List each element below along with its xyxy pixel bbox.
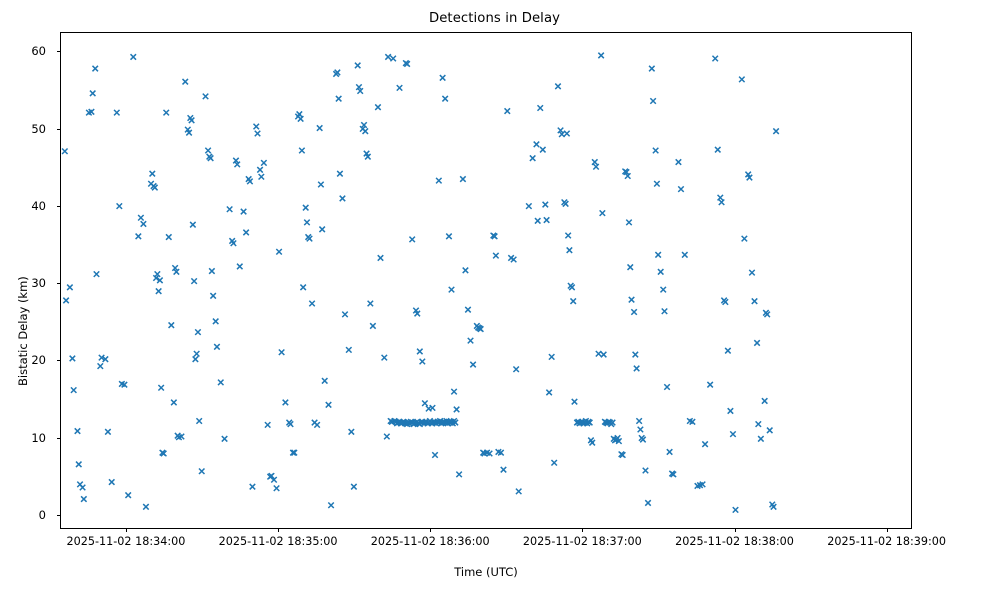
y-tick-label: 0 <box>0 509 46 521</box>
y-axis-label: Bistatic Delay (km) <box>16 276 30 386</box>
figure-canvas: Detections in Delay Bistatic Delay (km) … <box>0 0 989 590</box>
scatter-data-layer <box>61 33 911 528</box>
y-tick-label: 20 <box>0 354 46 366</box>
y-tick-label: 10 <box>0 432 46 444</box>
x-tick-label: 2025-11-02 18:39:00 <box>827 535 946 548</box>
x-axis-label: Time (UTC) <box>60 565 912 579</box>
x-tick-label: 2025-11-02 18:34:00 <box>67 535 186 548</box>
x-tick-label: 2025-11-02 18:37:00 <box>523 535 642 548</box>
scatter-points <box>61 33 911 528</box>
x-tick-label: 2025-11-02 18:36:00 <box>371 535 490 548</box>
y-tick-label: 60 <box>0 45 46 57</box>
x-tick-label: 2025-11-02 18:38:00 <box>675 535 794 548</box>
plot-area <box>60 32 912 529</box>
y-tick-label: 40 <box>0 200 46 212</box>
chart-title: Detections in Delay <box>0 11 989 26</box>
x-tick-label: 2025-11-02 18:35:00 <box>219 535 338 548</box>
y-tick-label: 50 <box>0 123 46 135</box>
y-tick-label: 30 <box>0 277 46 289</box>
